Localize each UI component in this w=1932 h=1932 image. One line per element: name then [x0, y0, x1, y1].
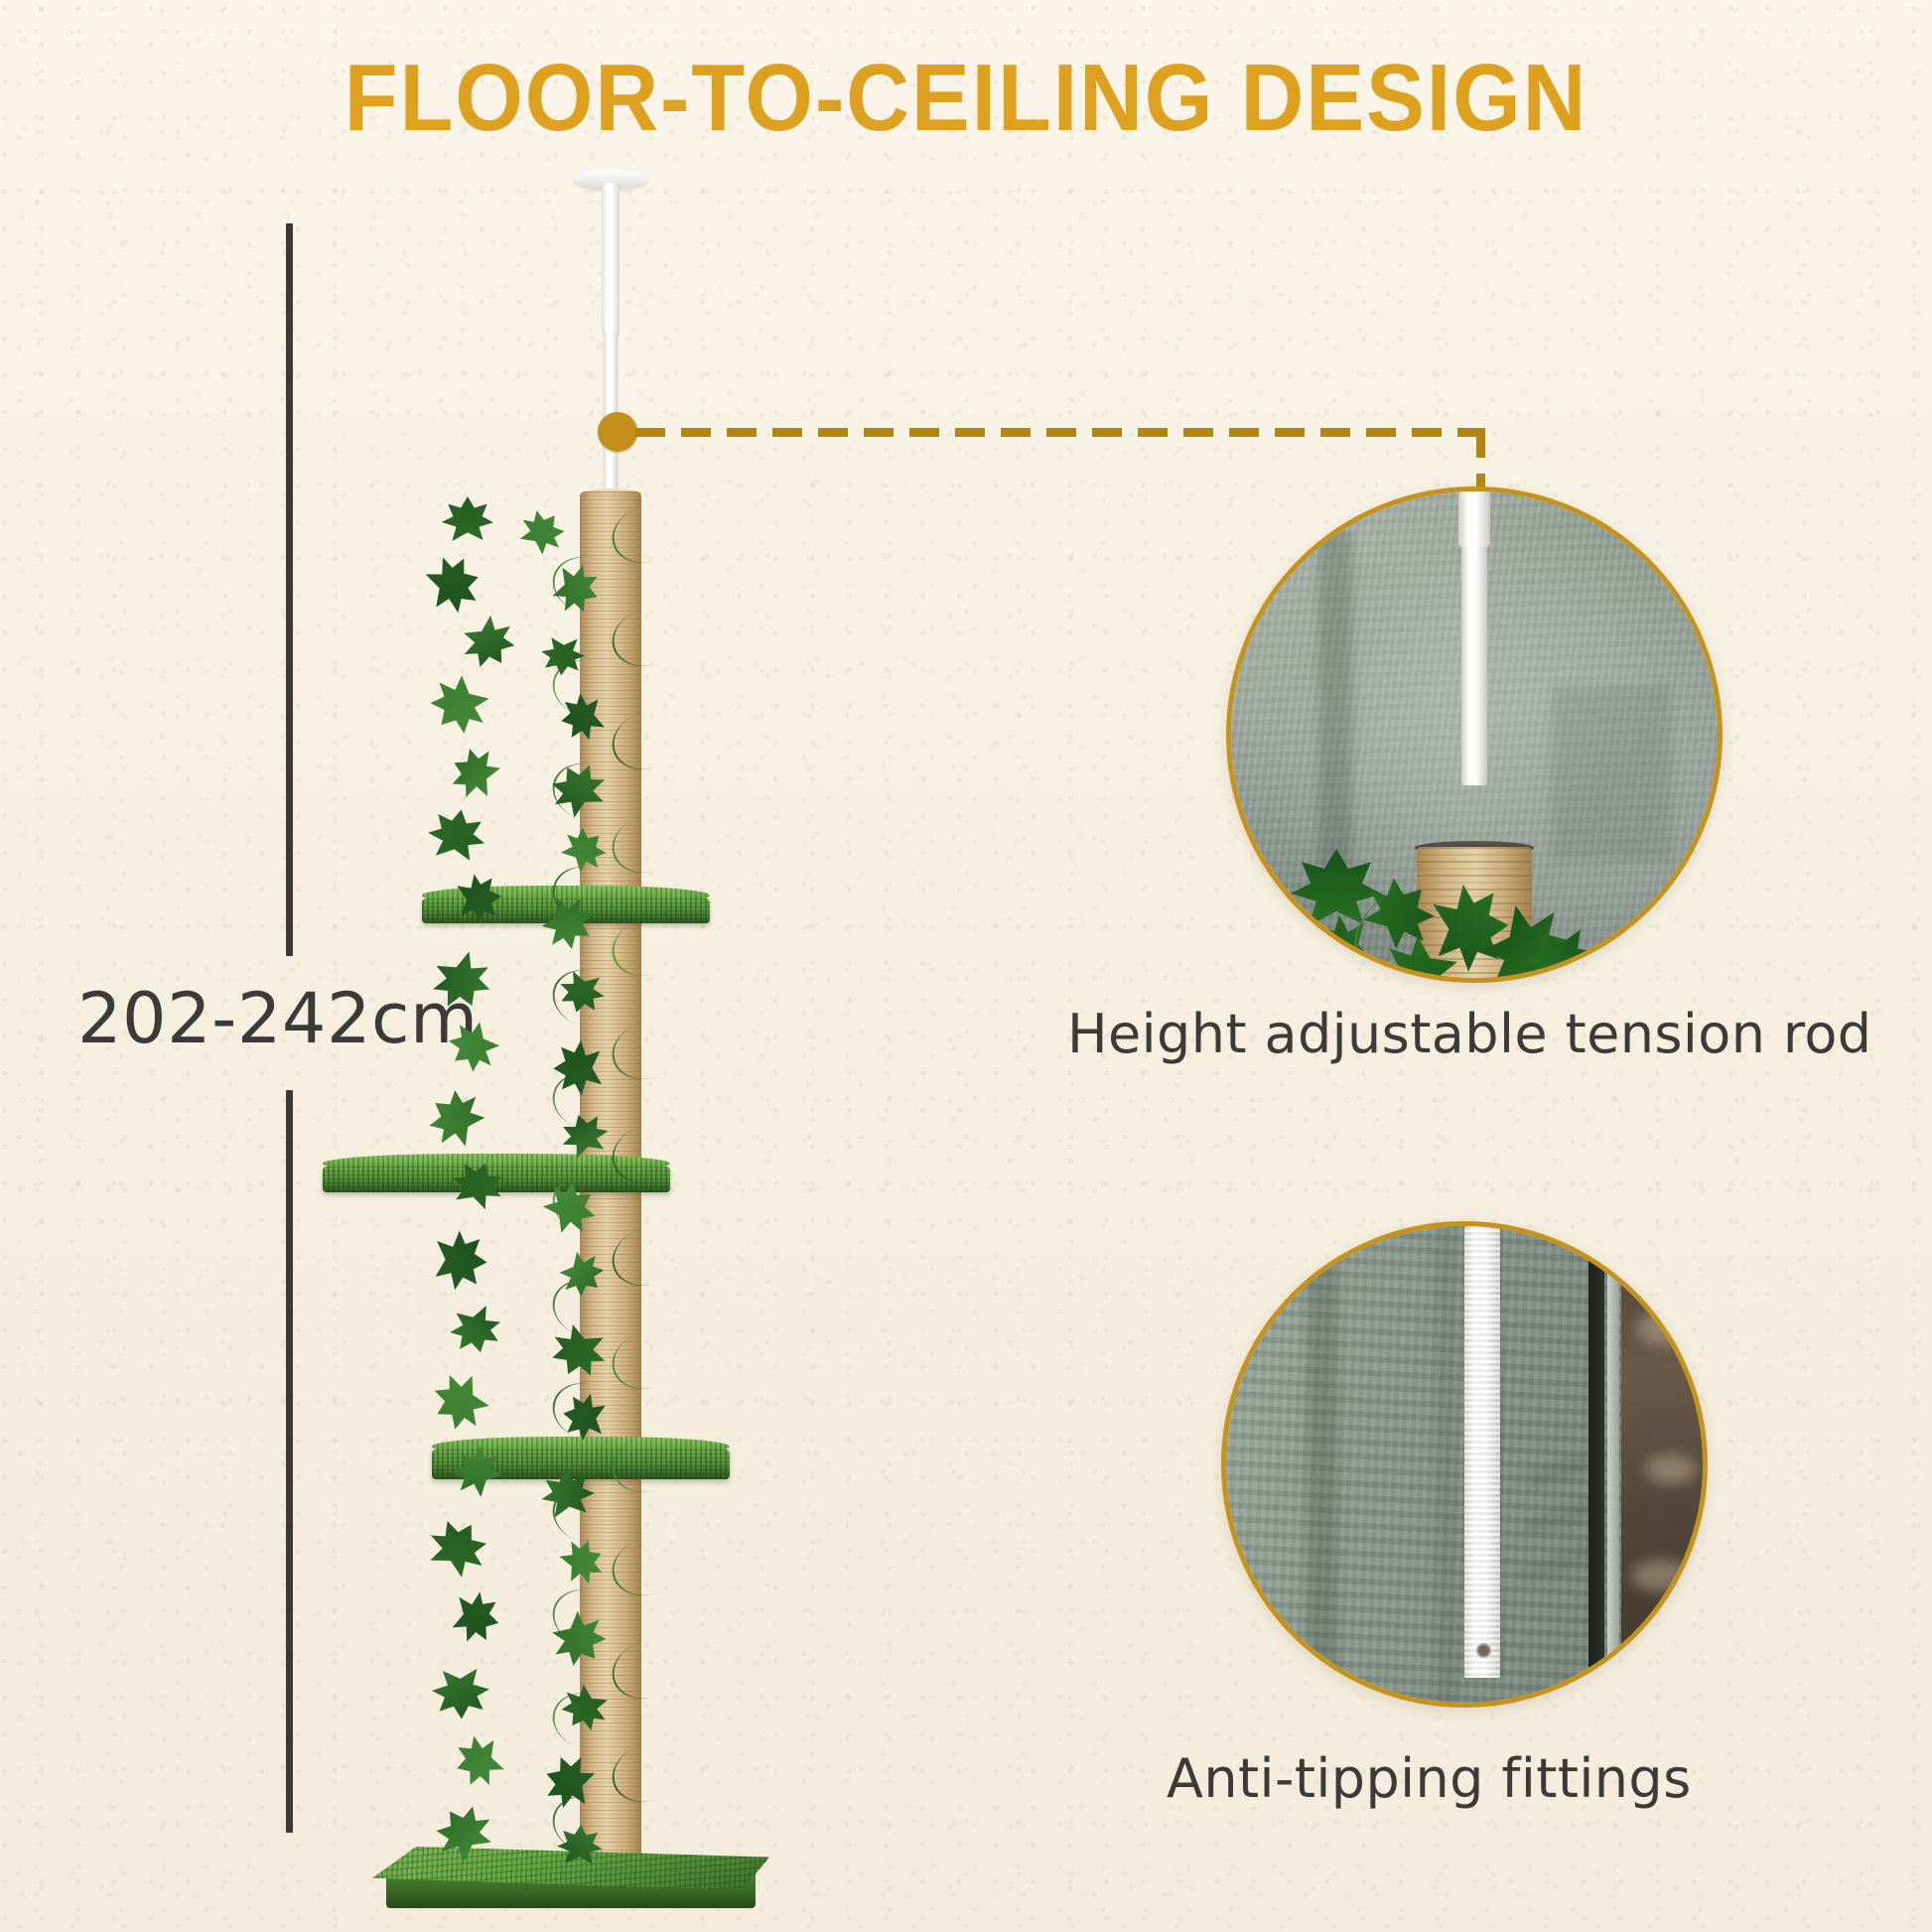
wall-streak: [1308, 1221, 1337, 1708]
window-frame-edge: [1588, 1226, 1604, 1703]
callout-line-vertical: [1476, 428, 1485, 494]
inset-rod-collar: [1458, 487, 1490, 547]
ivy-leaf: [439, 1012, 508, 1081]
page-title: FLOOR-TO-CEILING DESIGN: [77, 44, 1855, 153]
ivy-leaf: [424, 944, 499, 1018]
wall-streak: [1552, 686, 1671, 861]
callout-line-horizontal: [635, 428, 1485, 437]
dimension-line-lower: [286, 1090, 293, 1833]
ivy-leaf: [443, 740, 508, 807]
inset-anti-tipping-caption: Anti-tipping fittings: [1167, 1747, 1692, 1810]
inset-tension-rod-caption: Height adjustable tension rod: [1067, 1003, 1871, 1065]
window-frame-highlight: [1607, 1226, 1619, 1703]
strap-screw: [1476, 1643, 1491, 1658]
ivy-leaf: [424, 1364, 497, 1440]
ivy-leaf: [419, 549, 485, 619]
ivy-leaf: [418, 1510, 497, 1587]
ivy-leaf: [424, 804, 489, 867]
ivy-leaf: [442, 496, 493, 544]
inset-anti-tipping: [1221, 1221, 1708, 1708]
ivy-leaf: [430, 1229, 488, 1293]
tension-rod-upper: [602, 183, 620, 337]
ivy-leaf: [419, 664, 500, 745]
callout-anchor-dot: [598, 412, 637, 452]
wall-streak: [1436, 1221, 1457, 1708]
ivy-leaf: [453, 607, 524, 677]
ivy-leaf: [446, 1301, 506, 1358]
ivy-leaf: [431, 1665, 490, 1720]
inset-tension-rod: [1226, 486, 1723, 983]
ivy-leaf: [418, 1080, 494, 1158]
ivy-leaf: [447, 1587, 505, 1648]
window-reflection: [1631, 1560, 1691, 1591]
anti-tipping-strap: [1464, 1226, 1500, 1678]
wall-streak: [1318, 530, 1352, 871]
dimension-line-upper: [286, 223, 293, 956]
ivy-leaf: [449, 1729, 510, 1793]
ivy-leaf: [511, 501, 573, 562]
